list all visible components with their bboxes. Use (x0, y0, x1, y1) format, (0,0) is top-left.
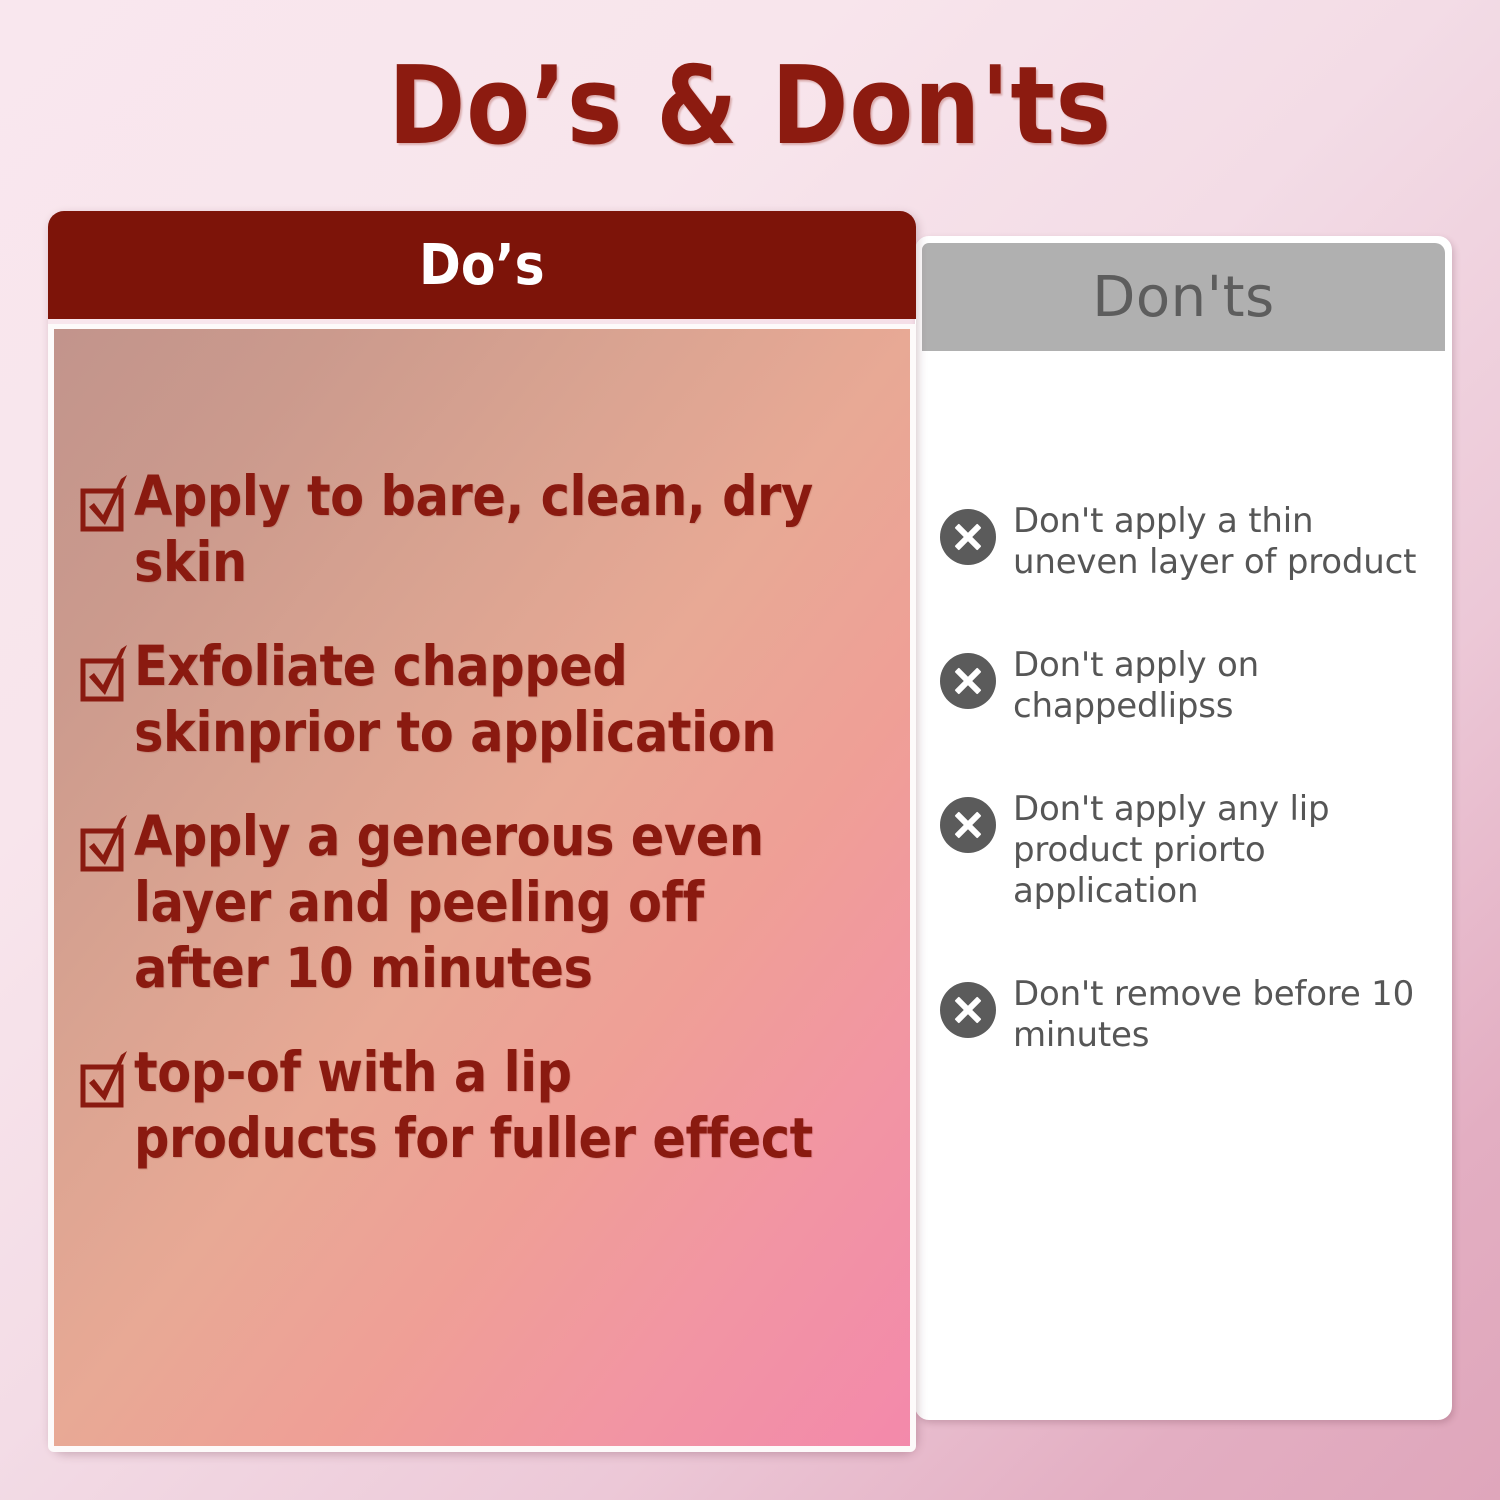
do-item-text: Apply a generous even layer and peeling … (134, 803, 823, 1001)
list-item: Don't remove before 10 minutes (940, 974, 1431, 1056)
dos-body: Apply to bare, clean, dry skin Exfoliate… (48, 324, 916, 1452)
do-item-text: Apply to bare, clean, dry skin (134, 463, 823, 595)
dos-header-label: Do’s (419, 233, 545, 298)
list-item: Apply a generous even layer and peeling … (80, 803, 900, 1001)
x-circle-icon (940, 509, 996, 565)
list-item: Exfoliate chapped skinprior to applicati… (80, 633, 900, 765)
dos-header: Do’s (48, 211, 916, 319)
list-item: top-of with a lip products for fuller ef… (80, 1039, 900, 1171)
do-item-text: top-of with a lip products for fuller ef… (134, 1039, 823, 1171)
list-item: Don't apply on chappedlipss (940, 645, 1431, 727)
dos-panel: Do’s Apply to bare, clean, dry skin (48, 211, 916, 1452)
page-title: Do’s & Don'ts (105, 44, 1395, 169)
dont-item-text: Don't apply on chappedlipss (1013, 645, 1431, 727)
x-circle-icon (940, 982, 996, 1038)
x-circle-icon (940, 797, 996, 853)
donts-list: Don't apply a thin uneven layer of produ… (940, 501, 1431, 1118)
checkbox-checked-icon (80, 1049, 130, 1111)
list-item: Apply to bare, clean, dry skin (80, 463, 900, 595)
donts-header: Don'ts (922, 243, 1445, 351)
dont-item-text: Don't remove before 10 minutes (1013, 974, 1431, 1056)
do-item-text: Exfoliate chapped skinprior to applicati… (134, 633, 823, 765)
checkbox-checked-icon (80, 813, 130, 875)
list-item: Don't apply a thin uneven layer of produ… (940, 501, 1431, 583)
x-circle-icon (940, 653, 996, 709)
dont-item-text: Don't apply any lip product priorto appl… (1013, 789, 1431, 912)
donts-panel: Don'ts Don't apply a thin uneven layer o… (915, 236, 1452, 1420)
checkbox-checked-icon (80, 643, 130, 705)
list-item: Don't apply any lip product priorto appl… (940, 789, 1431, 912)
dos-list: Apply to bare, clean, dry skin Exfoliate… (80, 463, 900, 1209)
checkbox-checked-icon (80, 473, 130, 535)
dont-item-text: Don't apply a thin uneven layer of produ… (1013, 501, 1431, 583)
donts-header-label: Don'ts (1092, 265, 1274, 330)
